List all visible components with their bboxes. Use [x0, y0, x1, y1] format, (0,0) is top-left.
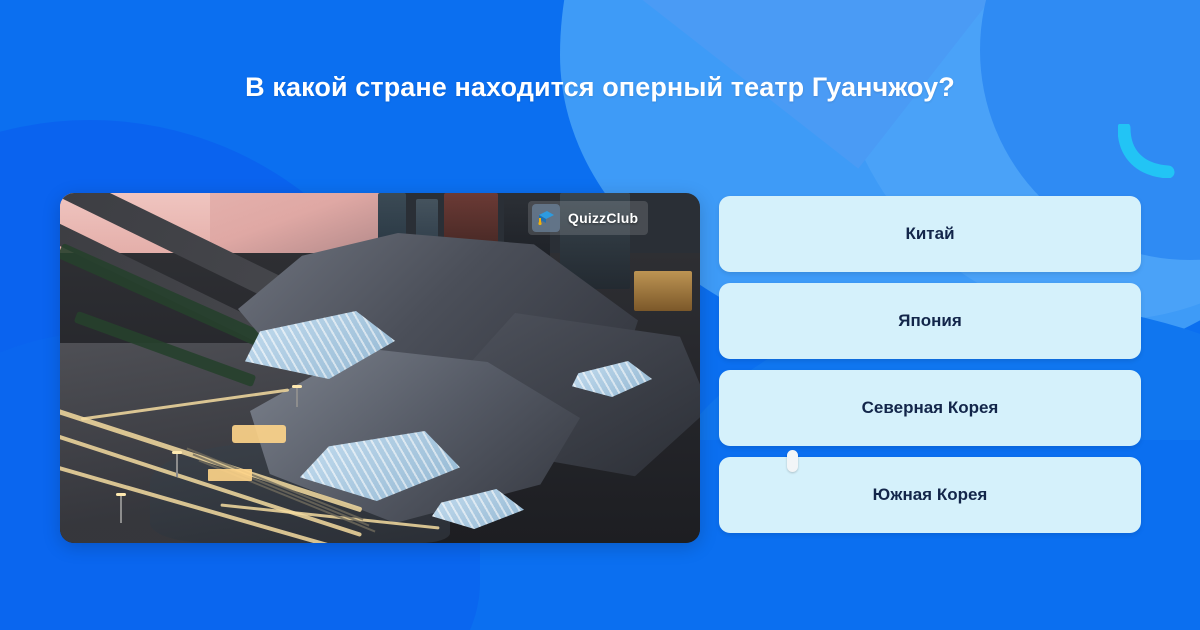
answer-option-2[interactable]: Япония [719, 283, 1141, 359]
crescent-arc-icon [1118, 124, 1176, 178]
photo-street-lamp [176, 451, 178, 477]
question-image: QuizzClub [60, 193, 700, 543]
answer-label: Китай [905, 224, 954, 244]
photo-entrance-glow [232, 425, 286, 443]
photo-street-lamp [120, 493, 122, 523]
answer-option-4[interactable]: Южная Корея [719, 457, 1141, 533]
watermark: QuizzClub [528, 201, 648, 235]
scroll-indicator[interactable] [787, 450, 798, 472]
photo-storefront-lights [634, 271, 692, 311]
graduation-cap-icon [532, 204, 560, 232]
watermark-brand: QuizzClub [568, 210, 638, 226]
answer-option-3[interactable]: Северная Корея [719, 370, 1141, 446]
quiz-card: В какой стране находится оперный театр Г… [0, 0, 1200, 630]
answer-label: Япония [898, 311, 962, 331]
answer-option-1[interactable]: Китай [719, 196, 1141, 272]
photo-entrance-glow [208, 469, 252, 481]
answer-label: Северная Корея [862, 398, 999, 418]
page-title: В какой стране находится оперный театр Г… [0, 72, 1200, 103]
photo-street-lamp [296, 385, 298, 407]
answer-label: Южная Корея [873, 485, 988, 505]
answer-list: Китай Япония Северная Корея Южная Корея [719, 196, 1141, 544]
